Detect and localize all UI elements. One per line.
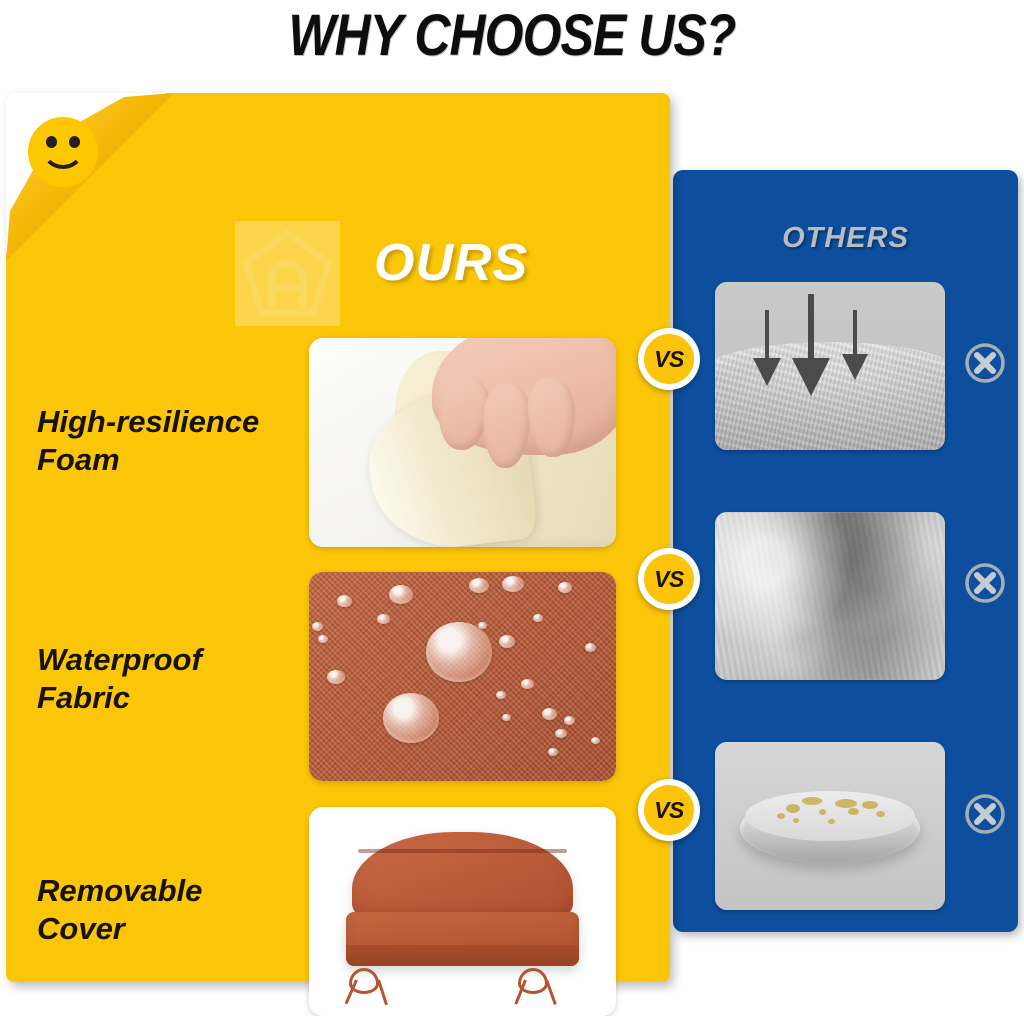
ours-image-foam [309, 338, 616, 547]
water-droplet [499, 635, 515, 648]
mottled-gray-texture [715, 512, 945, 680]
ours-image-cushion-set [309, 807, 616, 1016]
vs-label: VS [644, 554, 694, 604]
sagging-fabric-surface [715, 342, 945, 450]
feature-label-line2: Foam [37, 441, 305, 479]
water-droplet [377, 614, 390, 624]
x-circle-icon [963, 792, 1007, 836]
feature-label-waterproof-fabric: Waterproof Fabric [37, 641, 305, 718]
finger [526, 376, 577, 459]
page-title: WHY CHOOSE US? [72, 2, 953, 69]
water-droplet [389, 585, 413, 604]
x-circle-icon [963, 341, 1007, 385]
others-image-stained-cushion [715, 742, 945, 910]
water-droplet [318, 635, 328, 643]
others-heading: OTHERS [673, 222, 1018, 255]
cushion-top-face [745, 791, 915, 841]
water-droplet [533, 614, 543, 622]
feature-label-line1: High-resilience [37, 403, 305, 441]
feature-label-line2: Fabric [37, 679, 305, 717]
feature-label-line2: Cover [37, 910, 305, 948]
water-droplet [478, 622, 487, 629]
water-droplet [521, 679, 534, 689]
vs-badge-row-2: VS [638, 548, 700, 610]
stain-spot [777, 813, 785, 819]
others-image-gray-fabric [715, 512, 945, 680]
feature-label-removable-cover: Removable Cover [37, 872, 305, 949]
stain-spot [793, 818, 799, 823]
x-circle-icon [963, 561, 1007, 605]
ours-panel: OURS High-resilience Foam Waterproof Fab… [6, 93, 670, 982]
feature-label-line1: Waterproof [37, 641, 305, 679]
vs-label: VS [644, 334, 694, 384]
others-image-pressure-arrows [715, 282, 945, 450]
water-droplet [555, 729, 567, 738]
feature-label-high-resilience-foam: High-resilience Foam [37, 403, 305, 480]
seat-cushion-edge [346, 945, 579, 966]
stain-spot [819, 809, 826, 815]
ours-image-waterproof-fabric [309, 572, 616, 781]
water-droplet [337, 595, 352, 607]
ours-heading: OURS [374, 233, 528, 293]
stain-spot [848, 808, 859, 815]
feature-label-line1: Removable [37, 872, 305, 910]
water-droplet [426, 622, 492, 682]
vs-badge-row-3: VS [638, 779, 700, 841]
pillow-seam [358, 849, 567, 853]
smiley-mouth [41, 141, 85, 169]
stain-spot [862, 801, 878, 809]
pentagon-house-a-icon [235, 221, 340, 326]
water-droplet [469, 578, 489, 593]
stain-spot [876, 811, 885, 817]
vs-badge-row-1: VS [638, 328, 700, 390]
smiley-face-icon [28, 117, 98, 187]
water-droplet [564, 716, 575, 725]
water-droplet [383, 693, 439, 743]
hand [432, 338, 616, 455]
vs-label: VS [644, 785, 694, 835]
stain-spot [835, 799, 857, 808]
water-droplet [548, 748, 558, 756]
